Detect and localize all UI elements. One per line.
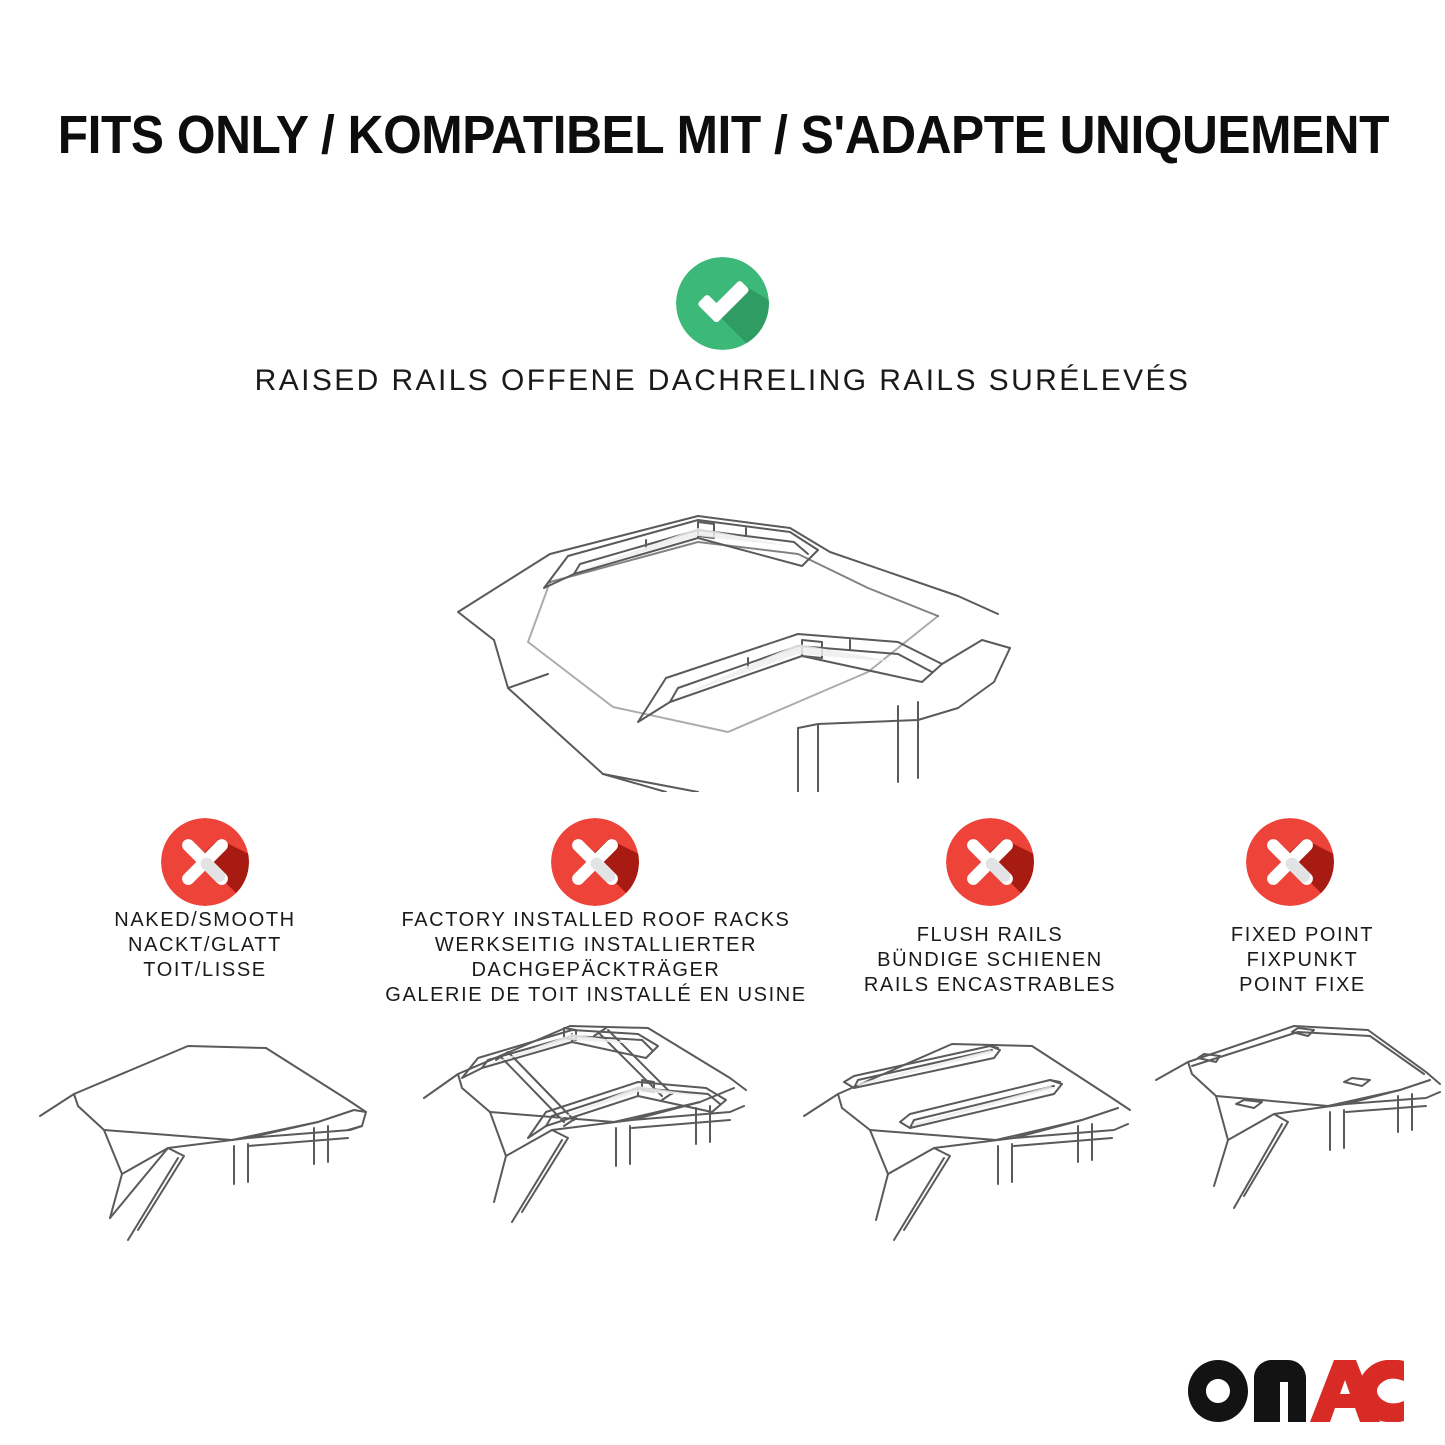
caption-line-fr: POINT FIXE bbox=[1175, 973, 1430, 998]
check-circle-icon bbox=[676, 257, 769, 350]
cross-circle-icon bbox=[161, 818, 249, 906]
caption-line-en: FLUSH RAILS bbox=[845, 923, 1135, 948]
caption-line-fr: RAILS ENCASTRABLES bbox=[845, 973, 1135, 998]
car-roof-naked-illustration bbox=[18, 1018, 388, 1288]
caption-line-en: FACTORY INSTALLED ROOF RACKS bbox=[370, 908, 822, 933]
incompatible-caption-naked: NAKED/SMOOTH NACKT/GLATT TOIT/LISSE bbox=[45, 908, 365, 983]
car-roof-flush-rails-illustration bbox=[782, 1018, 1152, 1288]
caption-line-de: NACKT/GLATT bbox=[45, 933, 365, 958]
caption-line-fr: TOIT/LISSE bbox=[45, 958, 365, 983]
caption-line-de-2: DACHGEPÄCKTRÄGER bbox=[370, 958, 822, 983]
incompatible-caption-factory-racks: FACTORY INSTALLED ROOF RACKS WERKSEITIG … bbox=[370, 908, 822, 1008]
caption-line-en: FIXED POINT bbox=[1175, 923, 1430, 948]
caption-line-de: OFFENE DACHRELING bbox=[501, 364, 869, 397]
cross-circle-icon bbox=[946, 818, 1034, 906]
page-title: FITS ONLY / KOMPATIBEL MIT / S'ADAPTE UN… bbox=[58, 104, 1387, 166]
caption-line-de: FIXPUNKT bbox=[1175, 948, 1430, 973]
caption-line-de: BÜNDIGE SCHIENEN bbox=[845, 948, 1135, 973]
omac-logo bbox=[1188, 1360, 1404, 1422]
car-roof-fixed-point-illustration bbox=[1148, 1018, 1445, 1288]
compatible-caption: RAISED RAILS OFFENE DACHRELING RAILS SUR… bbox=[0, 362, 1445, 400]
caption-line-fr: RAILS SURÉLEVÉS bbox=[879, 364, 1190, 397]
car-roof-raised-rails-illustration bbox=[398, 492, 1070, 792]
caption-line-en: NAKED/SMOOTH bbox=[45, 908, 365, 933]
fitment-compatibility-infographic: FITS ONLY / KOMPATIBEL MIT / S'ADAPTE UN… bbox=[0, 0, 1445, 1445]
caption-line-en: RAISED RAILS bbox=[255, 364, 491, 397]
caption-line-de-1: WERKSEITIG INSTALLIERTER bbox=[370, 933, 822, 958]
incompatible-caption-flush-rails: FLUSH RAILS BÜNDIGE SCHIENEN RAILS ENCAS… bbox=[845, 923, 1135, 998]
car-roof-factory-racks-illustration bbox=[400, 1002, 770, 1272]
incompatible-caption-fixed-point: FIXED POINT FIXPUNKT POINT FIXE bbox=[1175, 923, 1430, 998]
cross-circle-icon bbox=[551, 818, 639, 906]
cross-circle-icon bbox=[1246, 818, 1334, 906]
